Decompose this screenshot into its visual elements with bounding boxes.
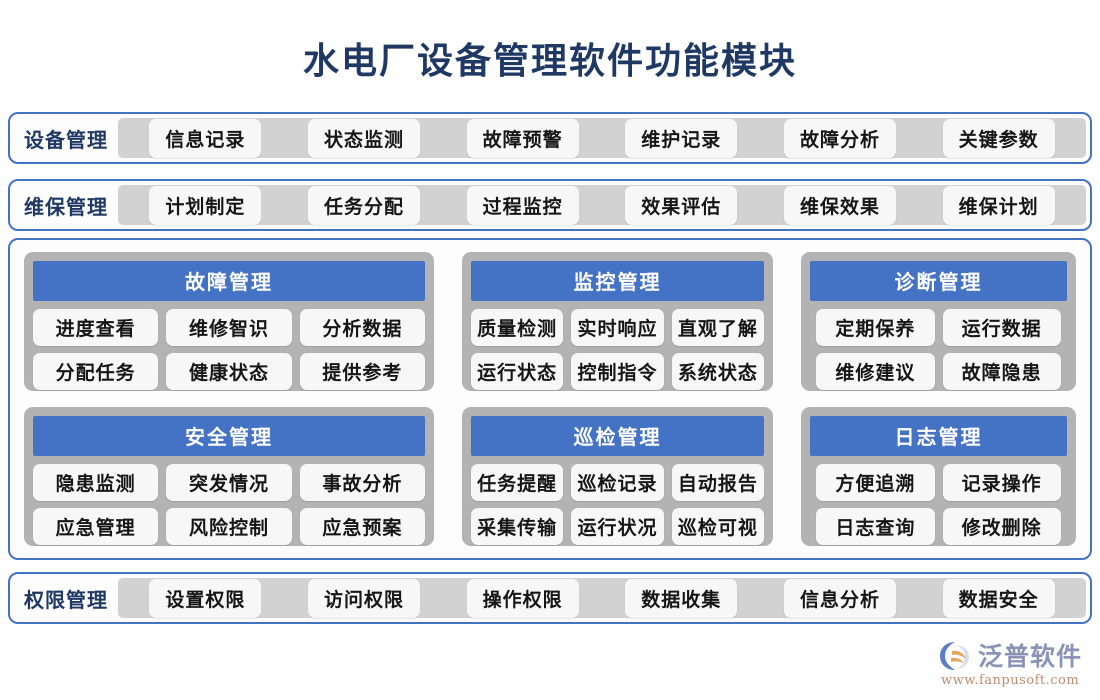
band-row: 设备管理 信息记录 状态监测 故障预警 维护记录 故障分析 关键参数 (10, 114, 1090, 162)
card-pill[interactable]: 记录操作 (943, 464, 1061, 501)
card-title: 日志管理 (810, 416, 1067, 456)
section-module-cards: 故障管理 进度查看 维修智识 分析数据 分配任务 健康状态 提供参考 监控管理 … (8, 238, 1092, 560)
pill-item[interactable]: 维保计划 (943, 186, 1055, 225)
pill-item[interactable]: 操作权限 (467, 579, 579, 618)
card-pill[interactable]: 维修建议 (816, 353, 934, 390)
band-strip-permission: 设置权限 访问权限 操作权限 数据收集 信息分析 数据安全 (118, 578, 1086, 618)
pill-item[interactable]: 数据收集 (625, 579, 737, 618)
card-pill[interactable]: 实时响应 (571, 309, 663, 346)
card-pill[interactable]: 直观了解 (672, 309, 764, 346)
card-pill[interactable]: 运行数据 (943, 309, 1061, 346)
card-pill[interactable]: 控制指令 (571, 353, 663, 390)
card-pill[interactable]: 维修智识 (166, 309, 291, 346)
card-pill[interactable]: 分配任务 (33, 353, 158, 390)
pill-item[interactable]: 任务分配 (308, 186, 420, 225)
logo-top: 泛普软件 (939, 641, 1082, 671)
card-inspection-management: 巡检管理 任务提醒 巡检记录 自动报告 采集传输 运行状况 巡检可视 (462, 407, 773, 546)
pill-item[interactable]: 维保效果 (784, 186, 896, 225)
card-pill[interactable]: 进度查看 (33, 309, 158, 346)
card-title: 安全管理 (33, 416, 425, 456)
card-title: 巡检管理 (471, 416, 764, 456)
logo-name: 泛普软件 (978, 644, 1082, 669)
card-body: 隐患监测 突发情况 事故分析 应急管理 风险控制 应急预案 (24, 456, 434, 545)
card-row: 分配任务 健康状态 提供参考 (33, 353, 425, 390)
card-pill[interactable]: 运行状态 (471, 353, 563, 390)
card-body: 质量检测 实时响应 直观了解 运行状态 控制指令 系统状态 (462, 301, 773, 390)
pill-item[interactable]: 关键参数 (943, 119, 1055, 158)
card-title: 诊断管理 (810, 261, 1067, 301)
pill-item[interactable]: 设置权限 (149, 579, 261, 618)
pill-item[interactable]: 过程监控 (467, 186, 579, 225)
card-pill[interactable]: 定期保养 (816, 309, 934, 346)
card-monitoring-management: 监控管理 质量检测 实时响应 直观了解 运行状态 控制指令 系统状态 (462, 252, 773, 391)
card-pill[interactable]: 质量检测 (471, 309, 563, 346)
card-row: 任务提醒 巡检记录 自动报告 (471, 464, 764, 501)
logo-url: www.fanpusoft.com (941, 673, 1079, 688)
pill-item[interactable]: 信息记录 (149, 119, 261, 158)
card-pill[interactable]: 巡检记录 (571, 464, 663, 501)
card-pill[interactable]: 运行状况 (571, 508, 663, 545)
card-pill[interactable]: 突发情况 (166, 464, 291, 501)
card-title: 故障管理 (33, 261, 425, 301)
band-strip-maintenance: 计划制定 任务分配 过程监控 效果评估 维保效果 维保计划 (118, 185, 1086, 225)
band-label-maintenance: 维保管理 (14, 185, 118, 225)
card-diagnosis-management: 诊断管理 定期保养 运行数据 维修建议 故障隐患 (801, 252, 1076, 391)
card-log-management: 日志管理 方便追溯 记录操作 日志查询 修改删除 (801, 407, 1076, 546)
card-pill[interactable]: 修改删除 (943, 508, 1061, 545)
card-pill[interactable]: 巡检可视 (672, 508, 764, 545)
band-label-permission: 权限管理 (14, 578, 118, 618)
card-pill[interactable]: 故障隐患 (943, 353, 1061, 390)
pill-item[interactable]: 维护记录 (625, 119, 737, 158)
card-pill[interactable]: 系统状态 (672, 353, 764, 390)
band-row: 权限管理 设置权限 访问权限 操作权限 数据收集 信息分析 数据安全 (10, 574, 1090, 622)
card-pill[interactable]: 隐患监测 (33, 464, 158, 501)
section-permission-management: 权限管理 设置权限 访问权限 操作权限 数据收集 信息分析 数据安全 (8, 572, 1092, 624)
card-pill[interactable]: 风险控制 (166, 508, 291, 545)
card-row: 运行状态 控制指令 系统状态 (471, 353, 764, 390)
card-row: 日志查询 修改删除 (810, 508, 1067, 545)
card-row: 定期保养 运行数据 (810, 309, 1067, 346)
card-row: 应急管理 风险控制 应急预案 (33, 508, 425, 545)
card-pill[interactable]: 采集传输 (471, 508, 563, 545)
brand-logo: 泛普软件 www.fanpusoft.com (939, 641, 1082, 688)
card-title: 监控管理 (471, 261, 764, 301)
pill-item[interactable]: 访问权限 (308, 579, 420, 618)
card-safety-management: 安全管理 隐患监测 突发情况 事故分析 应急管理 风险控制 应急预案 (24, 407, 434, 546)
card-pill[interactable]: 自动报告 (672, 464, 764, 501)
pill-item[interactable]: 故障分析 (784, 119, 896, 158)
band-strip-equipment: 信息记录 状态监测 故障预警 维护记录 故障分析 关键参数 (118, 118, 1086, 158)
card-pill[interactable]: 分析数据 (300, 309, 425, 346)
band-label-equipment: 设备管理 (14, 118, 118, 158)
card-pill[interactable]: 应急管理 (33, 508, 158, 545)
card-body: 定期保养 运行数据 维修建议 故障隐患 (801, 301, 1076, 390)
fanpu-logo-icon (939, 641, 973, 671)
page-title: 水电厂设备管理软件功能模块 (0, 0, 1100, 80)
card-pill[interactable]: 提供参考 (300, 353, 425, 390)
card-pill[interactable]: 应急预案 (300, 508, 425, 545)
card-body: 任务提醒 巡检记录 自动报告 采集传输 运行状况 巡检可视 (462, 456, 773, 545)
pill-item[interactable]: 状态监测 (308, 119, 420, 158)
card-body: 进度查看 维修智识 分析数据 分配任务 健康状态 提供参考 (24, 301, 434, 390)
pill-item[interactable]: 信息分析 (784, 579, 896, 618)
card-pill[interactable]: 日志查询 (816, 508, 934, 545)
card-pill[interactable]: 方便追溯 (816, 464, 934, 501)
card-pill[interactable]: 事故分析 (300, 464, 425, 501)
pill-item[interactable]: 效果评估 (625, 186, 737, 225)
pill-item[interactable]: 数据安全 (943, 579, 1055, 618)
pill-item[interactable]: 计划制定 (149, 186, 261, 225)
card-row: 方便追溯 记录操作 (810, 464, 1067, 501)
card-row: 采集传输 运行状况 巡检可视 (471, 508, 764, 545)
card-grid: 故障管理 进度查看 维修智识 分析数据 分配任务 健康状态 提供参考 监控管理 … (24, 252, 1076, 546)
card-pill[interactable]: 健康状态 (166, 353, 291, 390)
section-equipment-management: 设备管理 信息记录 状态监测 故障预警 维护记录 故障分析 关键参数 (8, 112, 1092, 164)
card-pill[interactable]: 任务提醒 (471, 464, 563, 501)
card-body: 方便追溯 记录操作 日志查询 修改删除 (801, 456, 1076, 545)
card-fault-management: 故障管理 进度查看 维修智识 分析数据 分配任务 健康状态 提供参考 (24, 252, 434, 391)
section-maintenance-management: 维保管理 计划制定 任务分配 过程监控 效果评估 维保效果 维保计划 (8, 179, 1092, 231)
card-row: 进度查看 维修智识 分析数据 (33, 309, 425, 346)
band-row: 维保管理 计划制定 任务分配 过程监控 效果评估 维保效果 维保计划 (10, 181, 1090, 229)
card-row: 隐患监测 突发情况 事故分析 (33, 464, 425, 501)
pill-item[interactable]: 故障预警 (467, 119, 579, 158)
card-row: 质量检测 实时响应 直观了解 (471, 309, 764, 346)
card-row: 维修建议 故障隐患 (810, 353, 1067, 390)
